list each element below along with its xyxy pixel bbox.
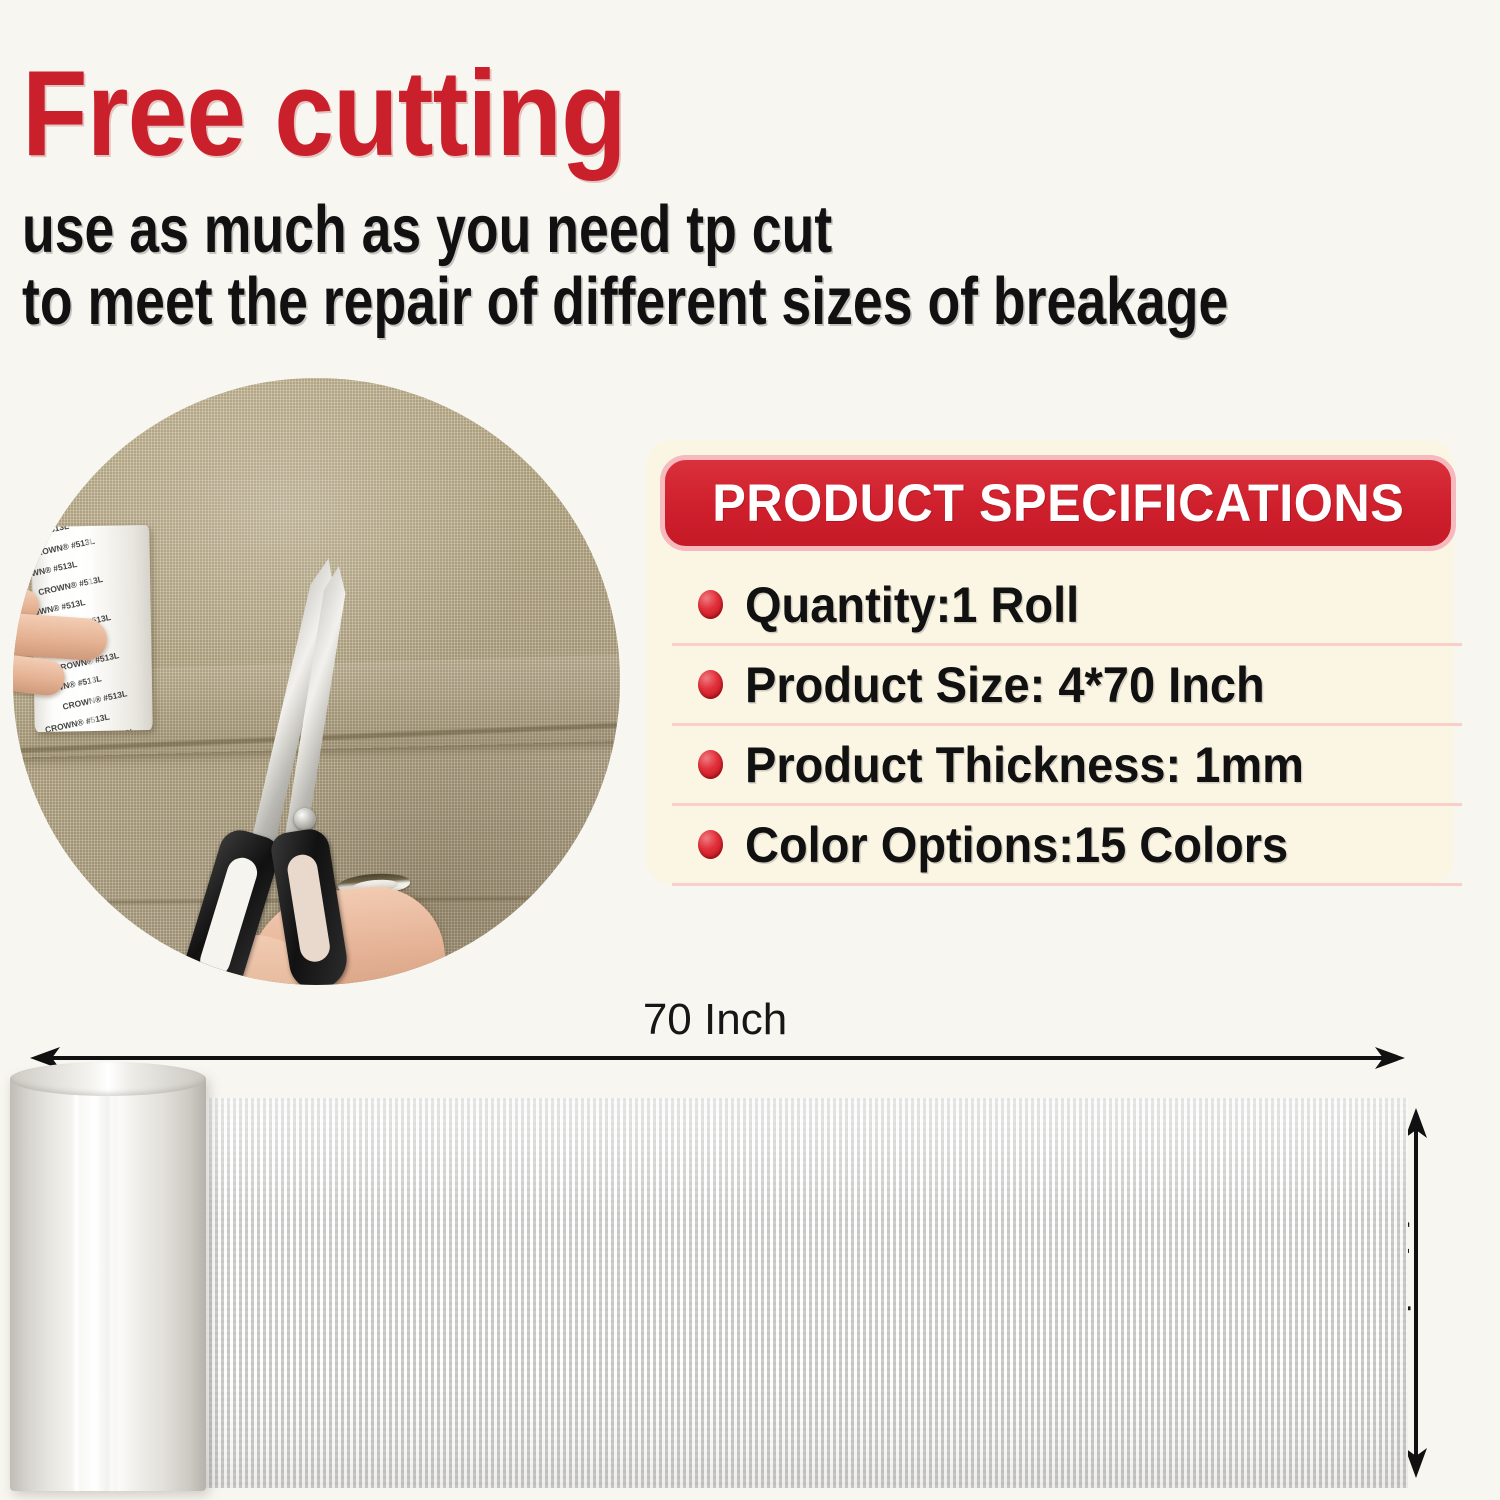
tape-roll xyxy=(10,1075,206,1491)
spec-label: Quantity:1 Roll xyxy=(745,576,1079,634)
page-title: Free cutting xyxy=(22,52,902,174)
specifications-banner-title: PRODUCT SPECIFICATIONS xyxy=(712,473,1404,534)
spec-row: Color Options:15 Colors xyxy=(672,806,1462,886)
bullet-icon xyxy=(698,830,723,859)
tape-roll-top-ellipse xyxy=(10,1062,206,1096)
spec-label: Product Size: 4*70 Inch xyxy=(745,656,1265,714)
finger xyxy=(13,612,108,662)
scissor-pivot-screw xyxy=(294,808,316,830)
horizontal-dimension-arrow xyxy=(30,1040,1405,1076)
tape-strip-sheen xyxy=(182,1098,1408,1488)
roll-highlight xyxy=(72,1075,81,1491)
subtitle-line-2: to meet the repair of different sizes of… xyxy=(22,268,1228,335)
bullet-icon xyxy=(698,590,723,619)
spec-row: Quantity:1 Roll xyxy=(672,566,1462,646)
spec-label: Product Thickness: 1mm xyxy=(745,736,1304,794)
length-dimension-label: 70 Inch xyxy=(0,995,1430,1045)
roll-highlight xyxy=(108,1075,115,1491)
product-usage-photo: CROWN® #513LCROWN® #513LCROWN® #513LCROW… xyxy=(13,378,620,985)
bullet-icon xyxy=(698,750,723,779)
spec-row: Product Size: 4*70 Inch xyxy=(672,646,1462,726)
subtitle-line-1: use as much as you need tp cut xyxy=(22,196,832,263)
spec-label: Color Options:15 Colors xyxy=(745,816,1288,874)
infographic-canvas: Free cutting use as much as you need tp … xyxy=(0,0,1500,1500)
tape-strip xyxy=(182,1098,1408,1488)
bullet-icon xyxy=(698,670,723,699)
spec-row: Product Thickness: 1mm xyxy=(672,726,1462,806)
specifications-list: Quantity:1 Roll Product Size: 4*70 Inch … xyxy=(672,566,1462,886)
specifications-banner: PRODUCT SPECIFICATIONS xyxy=(660,455,1456,551)
roll-highlight xyxy=(94,1075,99,1491)
